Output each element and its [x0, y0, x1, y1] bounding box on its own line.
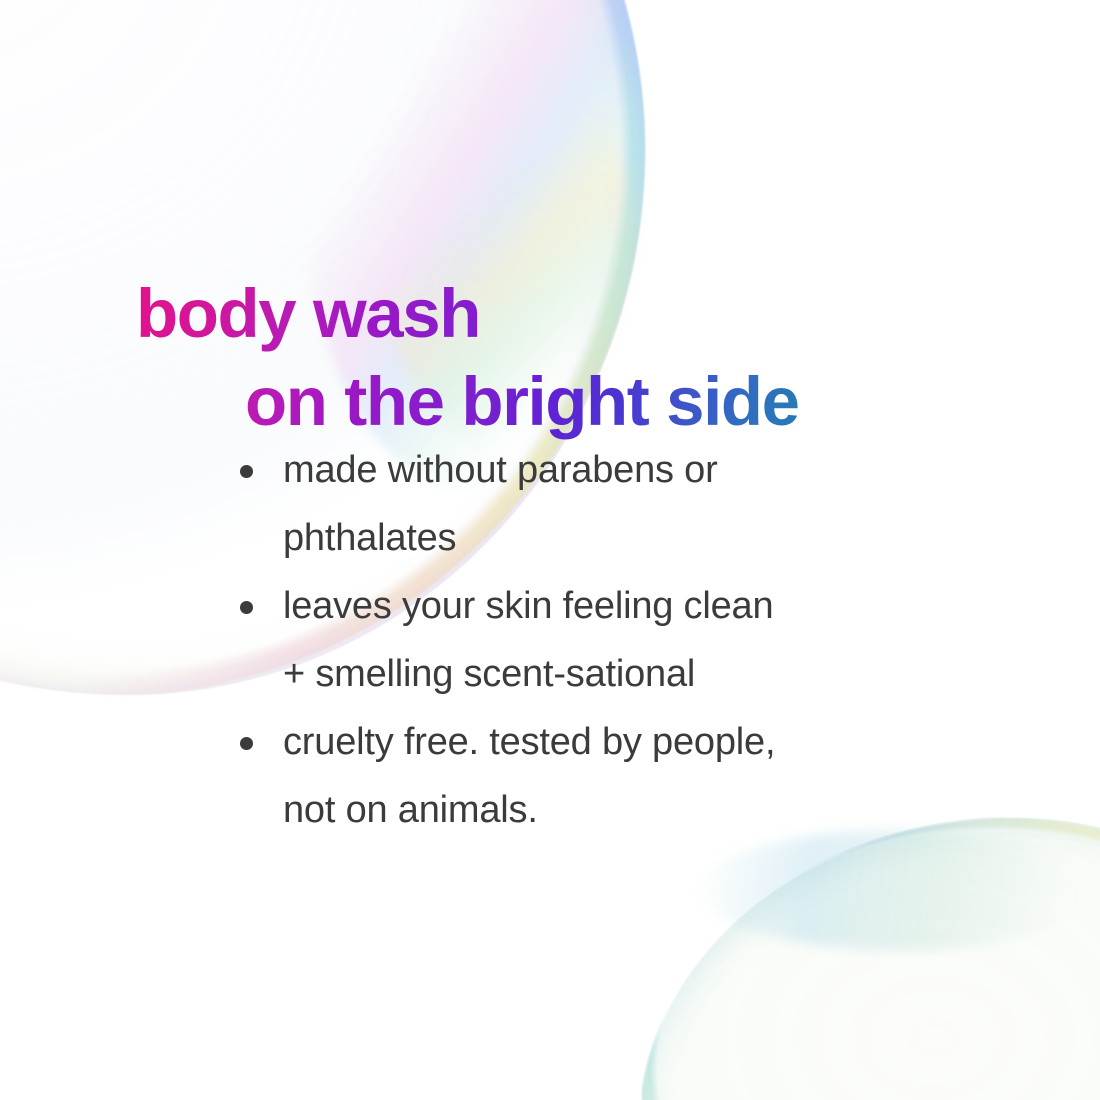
page-title: body wash on the bright side [136, 270, 996, 446]
list-item: made without parabens or phthalates [236, 436, 996, 572]
bullet-dot-icon [240, 465, 253, 478]
bullet-dot-icon [240, 601, 253, 614]
list-item: leaves your skin feeling clean + smellin… [236, 572, 996, 708]
headline-line-1: body wash [136, 270, 996, 358]
benefits-list: made without parabens or phthalates leav… [236, 436, 996, 844]
benefit-3-line-2: not on animals. [283, 776, 996, 844]
product-benefits-poster: body wash on the bright side made withou… [0, 0, 1100, 1100]
bullet-dot-icon [240, 737, 253, 750]
benefit-3-line-1: cruelty free. tested by people, [283, 708, 996, 776]
benefit-2-line-1: leaves your skin feeling clean [283, 572, 996, 640]
poster-content: body wash on the bright side made withou… [0, 0, 1100, 1100]
benefit-1-line-1: made without parabens or [283, 436, 996, 504]
benefit-2-line-2: + smelling scent-sational [283, 640, 996, 708]
benefit-1-line-2: phthalates [283, 504, 996, 572]
headline-line-2: on the bright side [136, 358, 996, 446]
list-item: cruelty free. tested by people, not on a… [236, 708, 996, 844]
